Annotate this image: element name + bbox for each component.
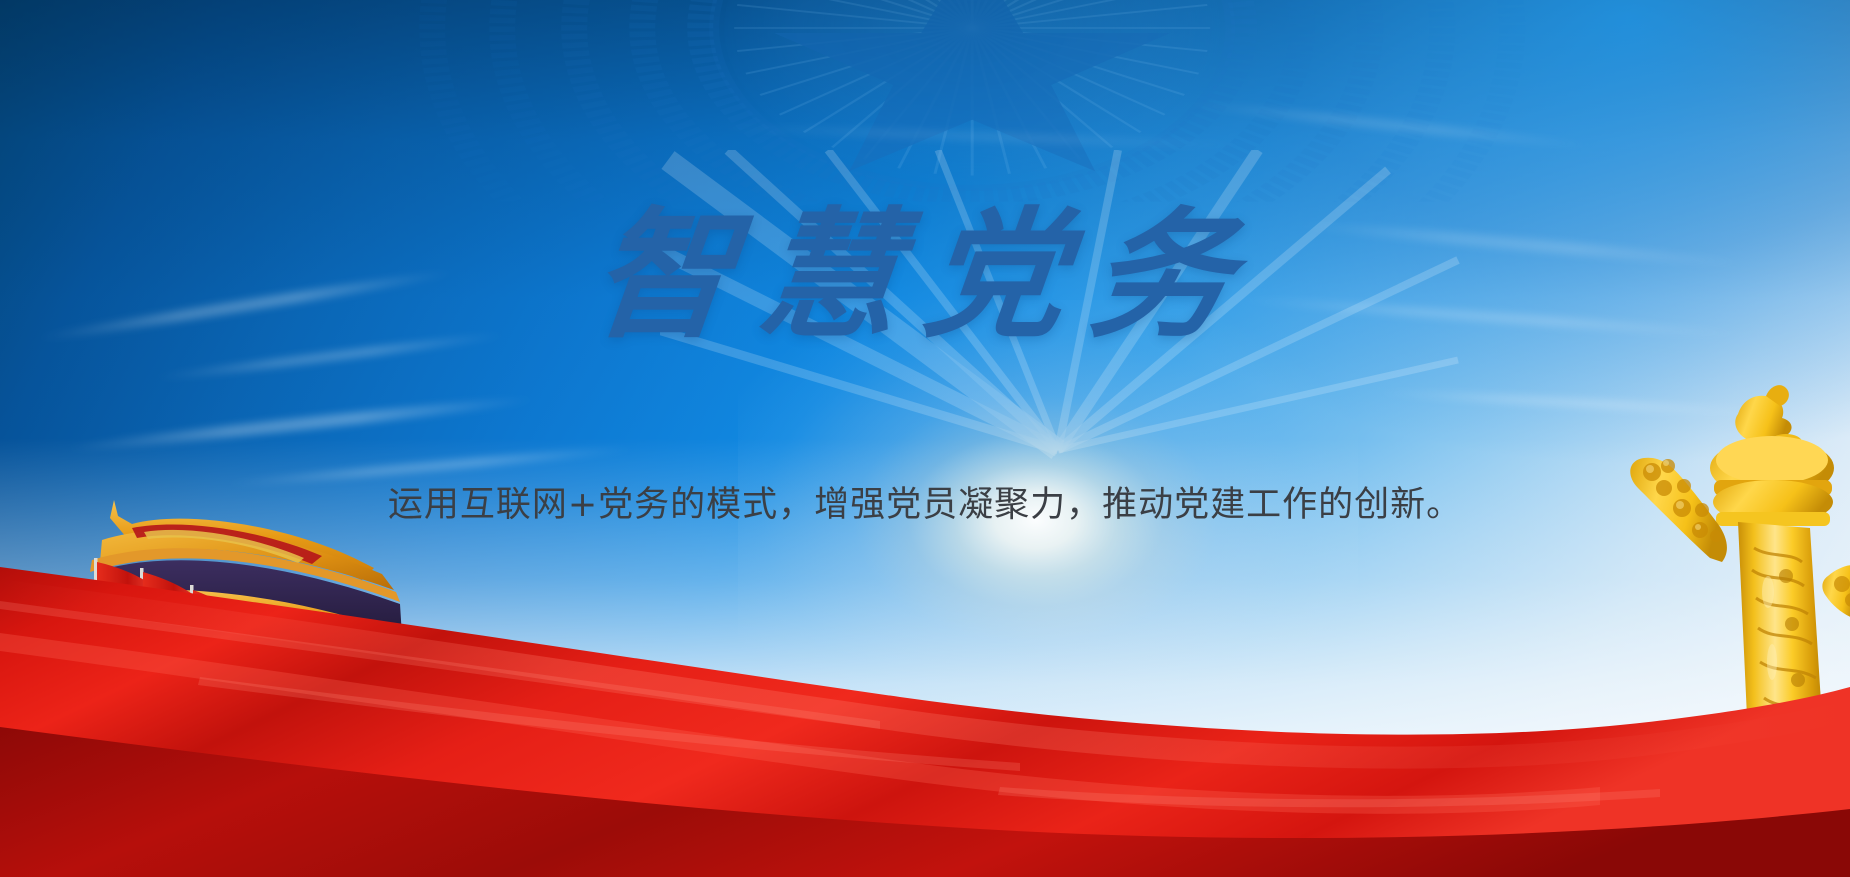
banner-hero: 智慧党务 运用互联网+党务的模式，增强党员凝聚力，推动党建工作的创新。 bbox=[0, 0, 1850, 877]
red-silk-ribbon bbox=[0, 537, 1850, 877]
page-title: 智慧党务 bbox=[0, 206, 1850, 346]
